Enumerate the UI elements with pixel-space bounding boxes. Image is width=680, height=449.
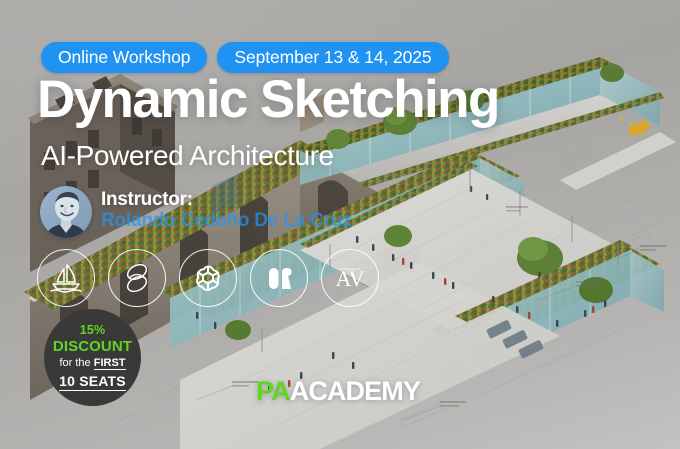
discount-badge[interactable]: 15% DISCOUNT for the FIRST 10 SEATS	[44, 309, 141, 406]
instructor-name: Rolando Cedeño De La Cruz	[101, 210, 351, 232]
krea-loop-icon	[120, 261, 154, 295]
svg-text:AV: AV	[336, 266, 365, 291]
badge-date[interactable]: September 13 & 14, 2025	[217, 42, 448, 73]
page-title: Dynamic Sketching	[37, 73, 499, 126]
brand-academy: ACADEMY	[290, 376, 420, 406]
midjourney-logo[interactable]	[37, 249, 95, 307]
discount-for-the: for the FIRST	[59, 358, 125, 370]
discount-first: FIRST	[94, 357, 126, 371]
poster-canvas: Online Workshop September 13 & 14, 2025 …	[0, 0, 680, 449]
discount-seats: 10 SEATS	[59, 374, 126, 391]
discount-for-the-text: for the	[59, 357, 93, 369]
midjourney-sailboat-icon	[49, 263, 83, 293]
brand-pa: PA	[256, 376, 290, 406]
av-logo[interactable]: AV	[321, 249, 379, 307]
badge-row: Online Workshop September 13 & 14, 2025	[41, 42, 449, 73]
av-monogram-icon: AV	[331, 263, 369, 293]
runway-logo[interactable]	[250, 249, 308, 307]
discount-word: DISCOUNT	[53, 339, 132, 355]
tool-logo-row: AV	[37, 249, 379, 307]
discount-percent: 15%	[80, 324, 106, 338]
badge-online-workshop[interactable]: Online Workshop	[41, 42, 207, 73]
openai-logo[interactable]	[179, 249, 237, 307]
runway-mark-icon	[262, 263, 296, 293]
page-subtitle: AI-Powered Architecture	[41, 140, 334, 172]
instructor-portrait-image	[40, 186, 92, 238]
brand-logo[interactable]: PAACADEMY	[256, 376, 420, 407]
instructor-label: Instructor:	[101, 189, 193, 211]
avatar	[40, 186, 92, 238]
krea-logo[interactable]	[108, 249, 166, 307]
openai-knot-icon	[191, 261, 225, 295]
